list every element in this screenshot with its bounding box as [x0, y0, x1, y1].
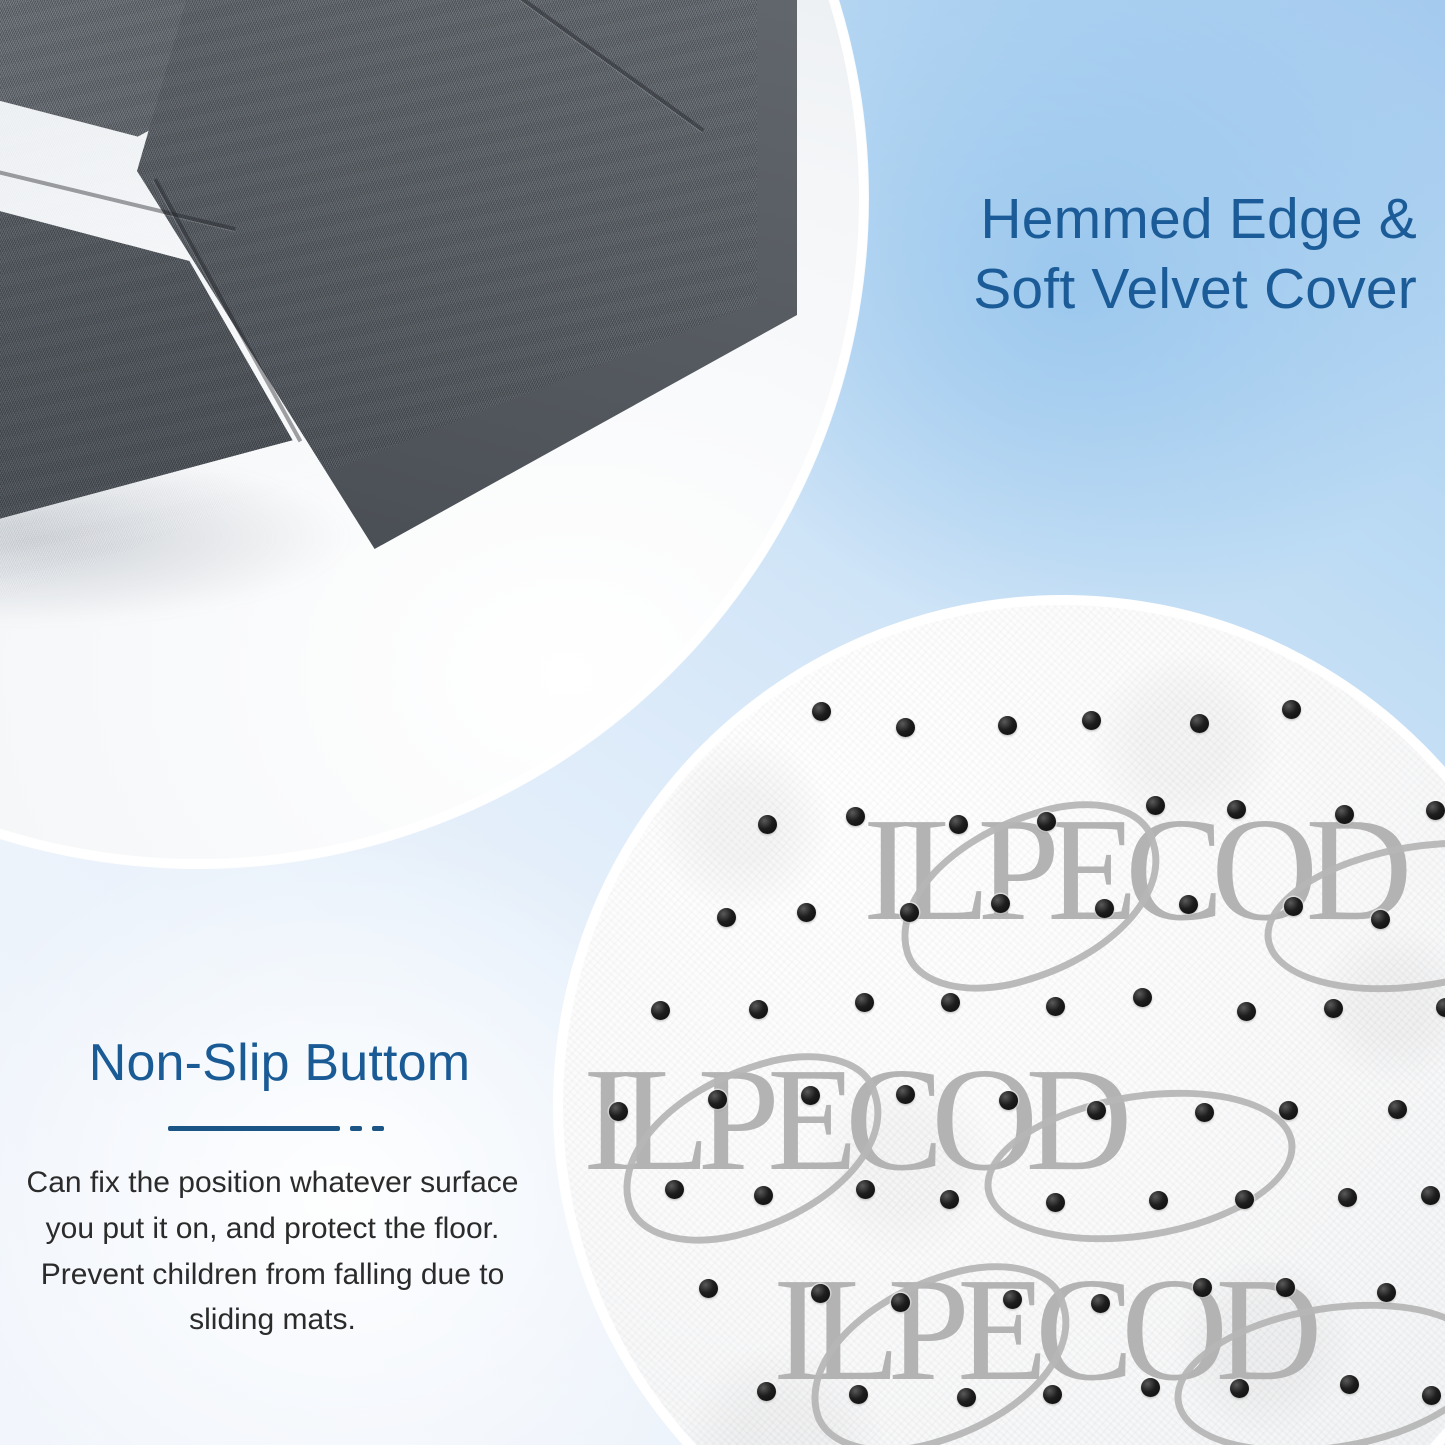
anti-slip-dot-grid: [563, 605, 1445, 1445]
anti-slip-dot: [651, 1001, 670, 1020]
anti-slip-dot: [1195, 1103, 1214, 1122]
anti-slip-dot: [949, 815, 968, 834]
anti-slip-dot: [1003, 1290, 1022, 1309]
anti-slip-dot: [609, 1102, 628, 1121]
anti-slip-dot: [1276, 1278, 1295, 1297]
anti-slip-dot: [1422, 1386, 1441, 1405]
anti-slip-dot: [758, 815, 777, 834]
body-line-2: you put it on, and protect the floor.: [22, 1206, 523, 1252]
anti-slip-dot: [1082, 711, 1101, 730]
anti-slip-dot: [1371, 910, 1390, 929]
anti-slip-dot: [1087, 1101, 1106, 1120]
divider-dash-2: [372, 1126, 384, 1131]
anti-slip-dot: [811, 1284, 830, 1303]
anti-slip-dot: [896, 718, 915, 737]
anti-slip-dot: [1279, 1101, 1298, 1120]
anti-slip-dot: [1043, 1385, 1062, 1404]
anti-slip-dot: [1340, 1375, 1359, 1394]
anti-slip-dot: [1179, 895, 1198, 914]
anti-slip-dot: [896, 1085, 915, 1104]
photo-inner-non-slip-bottom: ILPECOD ILPECOD ILPECOD: [563, 605, 1445, 1445]
anti-slip-dot: [665, 1180, 684, 1199]
anti-slip-dot: [1338, 1188, 1357, 1207]
anti-slip-dot: [940, 1190, 959, 1209]
anti-slip-dot: [1146, 796, 1165, 815]
body-line-4: sliding mats.: [22, 1297, 523, 1343]
anti-slip-dot: [1235, 1190, 1254, 1209]
feature-block-non-slip: Non-Slip Buttom Can fix the position wha…: [0, 1032, 545, 1343]
anti-slip-dot: [699, 1279, 718, 1298]
anti-slip-dot: [1046, 1193, 1065, 1212]
anti-slip-dot: [1284, 897, 1303, 916]
anti-slip-dot: [1436, 998, 1445, 1017]
anti-slip-dot: [757, 1382, 776, 1401]
headline-line-2: Soft Velvet Cover: [973, 255, 1417, 325]
anti-slip-dot: [1046, 997, 1065, 1016]
anti-slip-dot: [846, 807, 865, 826]
headline-line-1: Hemmed Edge &: [973, 185, 1417, 255]
anti-slip-dot: [1230, 1379, 1249, 1398]
anti-slip-dot: [749, 1000, 768, 1019]
anti-slip-dot: [849, 1385, 868, 1404]
anti-slip-dot: [1091, 1294, 1110, 1313]
divider-bar: [168, 1126, 340, 1131]
anti-slip-dot: [1282, 700, 1301, 719]
anti-slip-dot: [1227, 800, 1246, 819]
anti-slip-dot: [1193, 1278, 1212, 1297]
anti-slip-dot: [1324, 999, 1343, 1018]
anti-slip-dot: [998, 716, 1017, 735]
anti-slip-dot: [801, 1086, 820, 1105]
feature-body-non-slip: Can fix the position whatever surface yo…: [0, 1160, 545, 1342]
anti-slip-dot: [1133, 988, 1152, 1007]
anti-slip-dot: [900, 903, 919, 922]
anti-slip-dot: [1095, 899, 1114, 918]
feature-heading-non-slip: Non-Slip Buttom: [0, 1032, 545, 1094]
anti-slip-dot: [991, 894, 1010, 913]
anti-slip-dot: [1037, 812, 1056, 831]
feature-headline-velvet: Hemmed Edge & Soft Velvet Cover: [973, 185, 1417, 324]
anti-slip-dot: [1149, 1191, 1168, 1210]
anti-slip-dot: [1335, 805, 1354, 824]
anti-slip-dot: [754, 1186, 773, 1205]
infographic-canvas: ILPECOD ILPECOD ILPECOD Hemmed Edge & So…: [0, 0, 1445, 1445]
anti-slip-dot: [1237, 1002, 1256, 1021]
anti-slip-dot: [856, 1180, 875, 1199]
anti-slip-dot: [812, 702, 831, 721]
divider-dash-1: [350, 1126, 362, 1131]
anti-slip-dot: [1377, 1283, 1396, 1302]
anti-slip-dot: [1141, 1378, 1160, 1397]
anti-slip-dot: [1388, 1100, 1407, 1119]
anti-slip-dot: [1190, 714, 1209, 733]
body-line-3: Prevent children from falling due to: [22, 1252, 523, 1298]
body-line-1: Can fix the position whatever surface: [22, 1160, 523, 1206]
anti-slip-dot: [999, 1091, 1018, 1110]
anti-slip-dot: [891, 1293, 910, 1312]
anti-slip-dot: [797, 903, 816, 922]
anti-slip-dot: [941, 993, 960, 1012]
product-photo-non-slip-bottom: ILPECOD ILPECOD ILPECOD: [553, 595, 1445, 1445]
anti-slip-dot: [957, 1388, 976, 1407]
heading-divider: [0, 1118, 545, 1140]
anti-slip-dot: [717, 908, 736, 927]
anti-slip-dot: [1426, 801, 1445, 820]
anti-slip-dot: [855, 993, 874, 1012]
anti-slip-dot: [708, 1090, 727, 1109]
anti-slip-dot: [1421, 1186, 1440, 1205]
